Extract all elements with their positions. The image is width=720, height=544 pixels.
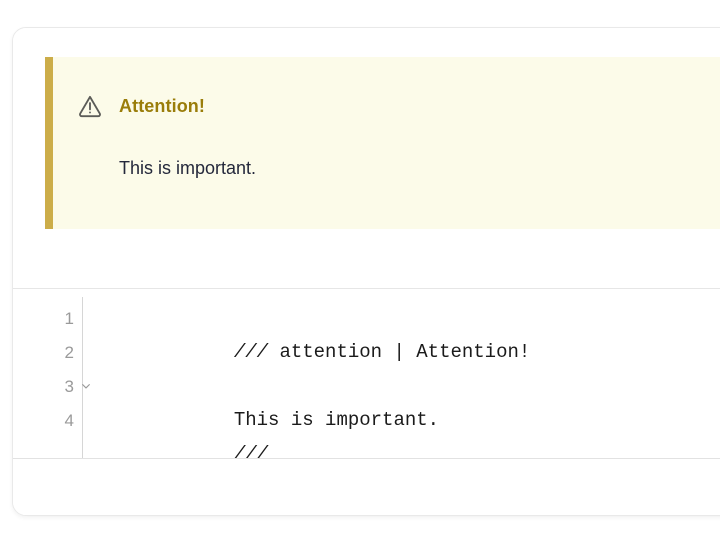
- line-number: 2: [65, 344, 74, 361]
- gutter-row: 2: [13, 335, 82, 369]
- admonition-title: Attention!: [119, 96, 205, 117]
- line-number: 4: [65, 412, 74, 429]
- fence-token: ///: [234, 443, 268, 458]
- editor-body: 1 2 3 4: [13, 297, 720, 459]
- gutter-row: 4: [13, 403, 82, 437]
- warning-triangle-icon: [77, 93, 103, 119]
- admonition-body-text: This is important.: [119, 158, 256, 179]
- gutter-row: 3: [13, 369, 82, 403]
- admonition-attention: Attention! This is important.: [45, 57, 720, 229]
- source-editor-pane: 1 2 3 4: [13, 289, 720, 516]
- example-card: Attention! This is important. 1 2 3: [12, 27, 720, 516]
- gutter-row: 1: [13, 301, 82, 335]
- code-token: This is important.: [234, 409, 439, 431]
- fence-token: ///: [234, 341, 268, 363]
- line-number: 1: [65, 310, 74, 327]
- admonition-title-row: Attention!: [77, 93, 205, 119]
- line-number-gutter: 1 2 3 4: [13, 297, 83, 458]
- code-line[interactable]: /// attention | Attention!: [97, 301, 720, 335]
- screen-root: Attention! This is important. 1 2 3: [0, 0, 720, 544]
- code-text-area[interactable]: /// attention | Attention! This is impor…: [83, 297, 720, 458]
- code-token: attention | Attention!: [268, 341, 530, 363]
- rendered-preview-pane: Attention! This is important.: [13, 28, 720, 289]
- line-number: 3: [65, 378, 74, 395]
